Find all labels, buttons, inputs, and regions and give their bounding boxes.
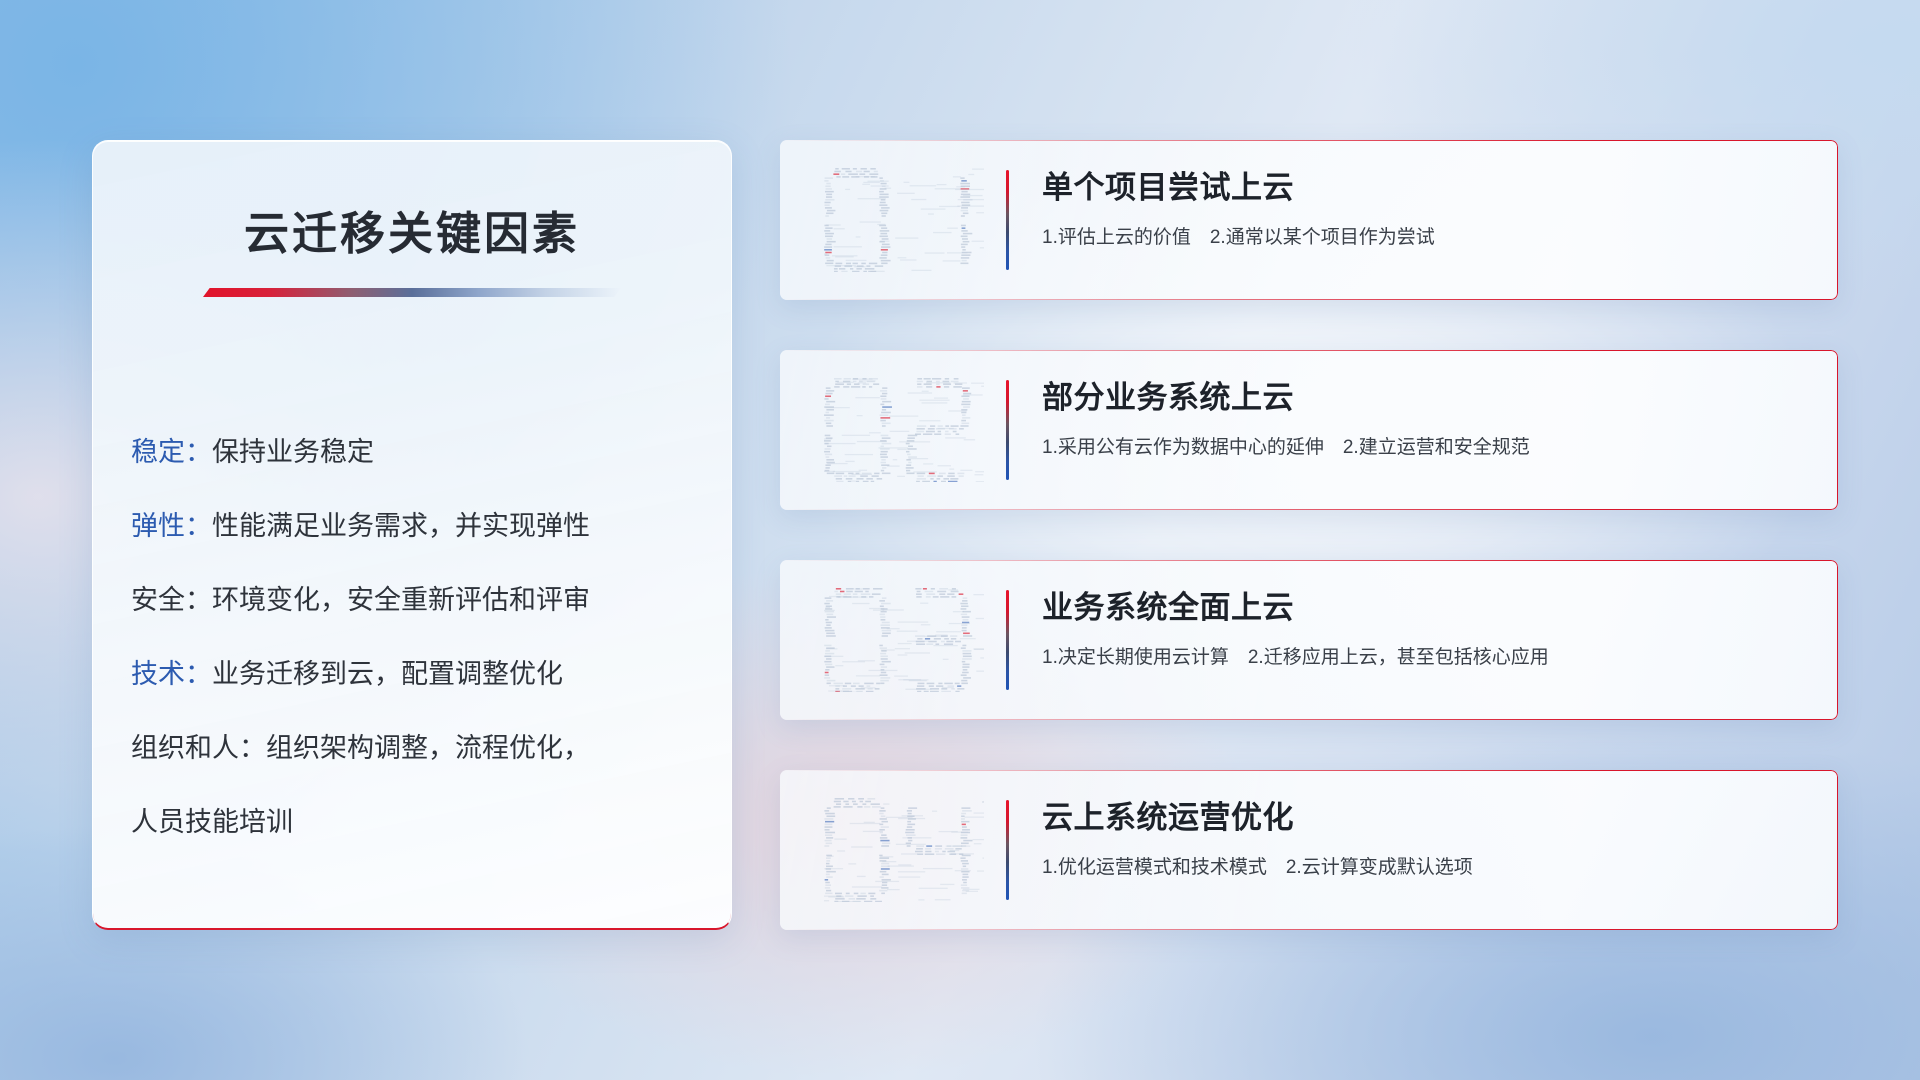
step-card[interactable]: 单个项目尝试上云1.评估上云的价值 2.通常以某个项目作为尝试 [780,140,1838,300]
card-body: 部分业务系统上云1.采用公有云作为数据中心的延伸 2.建立运营和安全规范 [1042,376,1798,462]
factor-text: 保持业务稳定 [212,437,374,467]
card-divider-bar [1006,590,1009,690]
factor-label: 弹性： [131,511,212,541]
step-card[interactable]: 业务系统全面上云1.决定长期使用云计算 2.迁移应用上云，甚至包括核心应用 [780,560,1838,720]
factor-text: 业务迁移到云，配置调整优化 [212,659,563,689]
factor-text: 组织架构调整，流程优化， [266,733,590,763]
card-title: 部分业务系统上云 [1042,376,1798,420]
card-description: 1.优化运营模式和技术模式 2.云计算变成默认选项 [1042,854,1798,882]
factor-label: 安全： [131,585,212,615]
page-title: 云迁移关键因素 [93,197,731,262]
factor-item: 稳定：保持业务稳定 [131,415,731,489]
factor-text: 环境变化，安全重新评估和评审 [212,585,590,615]
card-body: 云上系统运营优化1.优化运营模式和技术模式 2.云计算变成默认选项 [1042,796,1798,882]
factor-item: 安全：环境变化，安全重新评估和评审 [131,563,731,637]
step-number-glitch [824,588,984,692]
factor-label: 组织和人： [131,733,266,763]
factor-item: 弹性：性能满足业务需求，并实现弹性 [131,489,731,563]
card-divider-bar [1006,380,1009,480]
factor-item: 技术：业务迁移到云，配置调整优化 [131,637,731,711]
card-description: 1.采用公有云作为数据中心的延伸 2.建立运营和安全规范 [1042,434,1798,462]
step-card[interactable]: 部分业务系统上云1.采用公有云作为数据中心的延伸 2.建立运营和安全规范 [780,350,1838,510]
key-factors-panel: 云迁移关键因素 稳定：保持业务稳定弹性：性能满足业务需求，并实现弹性安全：环境变… [92,140,732,930]
factor-label: 稳定： [131,437,212,467]
step-number-glitch [824,168,984,272]
slide-canvas: 云迁移关键因素 稳定：保持业务稳定弹性：性能满足业务需求，并实现弹性安全：环境变… [0,0,1920,1080]
step-card[interactable]: 云上系统运营优化1.优化运营模式和技术模式 2.云计算变成默认选项 [780,770,1838,930]
card-description: 1.评估上云的价值 2.通常以某个项目作为尝试 [1042,224,1798,252]
factor-item: 人员技能培训 [131,785,731,859]
title-underline-rule [203,288,621,297]
card-divider-bar [1006,170,1009,270]
card-body: 单个项目尝试上云1.评估上云的价值 2.通常以某个项目作为尝试 [1042,166,1798,252]
card-title: 业务系统全面上云 [1042,586,1798,630]
card-divider-bar [1006,800,1009,900]
factor-text: 人员技能培训 [131,807,293,837]
card-title: 云上系统运营优化 [1042,796,1798,840]
card-body: 业务系统全面上云1.决定长期使用云计算 2.迁移应用上云，甚至包括核心应用 [1042,586,1798,672]
factor-label: 技术： [131,659,212,689]
step-number-glitch [824,798,984,902]
step-number-glitch [824,378,984,482]
card-description: 1.决定长期使用云计算 2.迁移应用上云，甚至包括核心应用 [1042,644,1798,672]
factor-item: 组织和人：组织架构调整，流程优化， [131,711,731,785]
card-title: 单个项目尝试上云 [1042,166,1798,210]
migration-steps-list: 单个项目尝试上云1.评估上云的价值 2.通常以某个项目作为尝试部分业务系统上云1… [780,140,1838,930]
factor-list: 稳定：保持业务稳定弹性：性能满足业务需求，并实现弹性安全：环境变化，安全重新评估… [93,415,731,859]
factor-text: 性能满足业务需求，并实现弹性 [212,511,590,541]
